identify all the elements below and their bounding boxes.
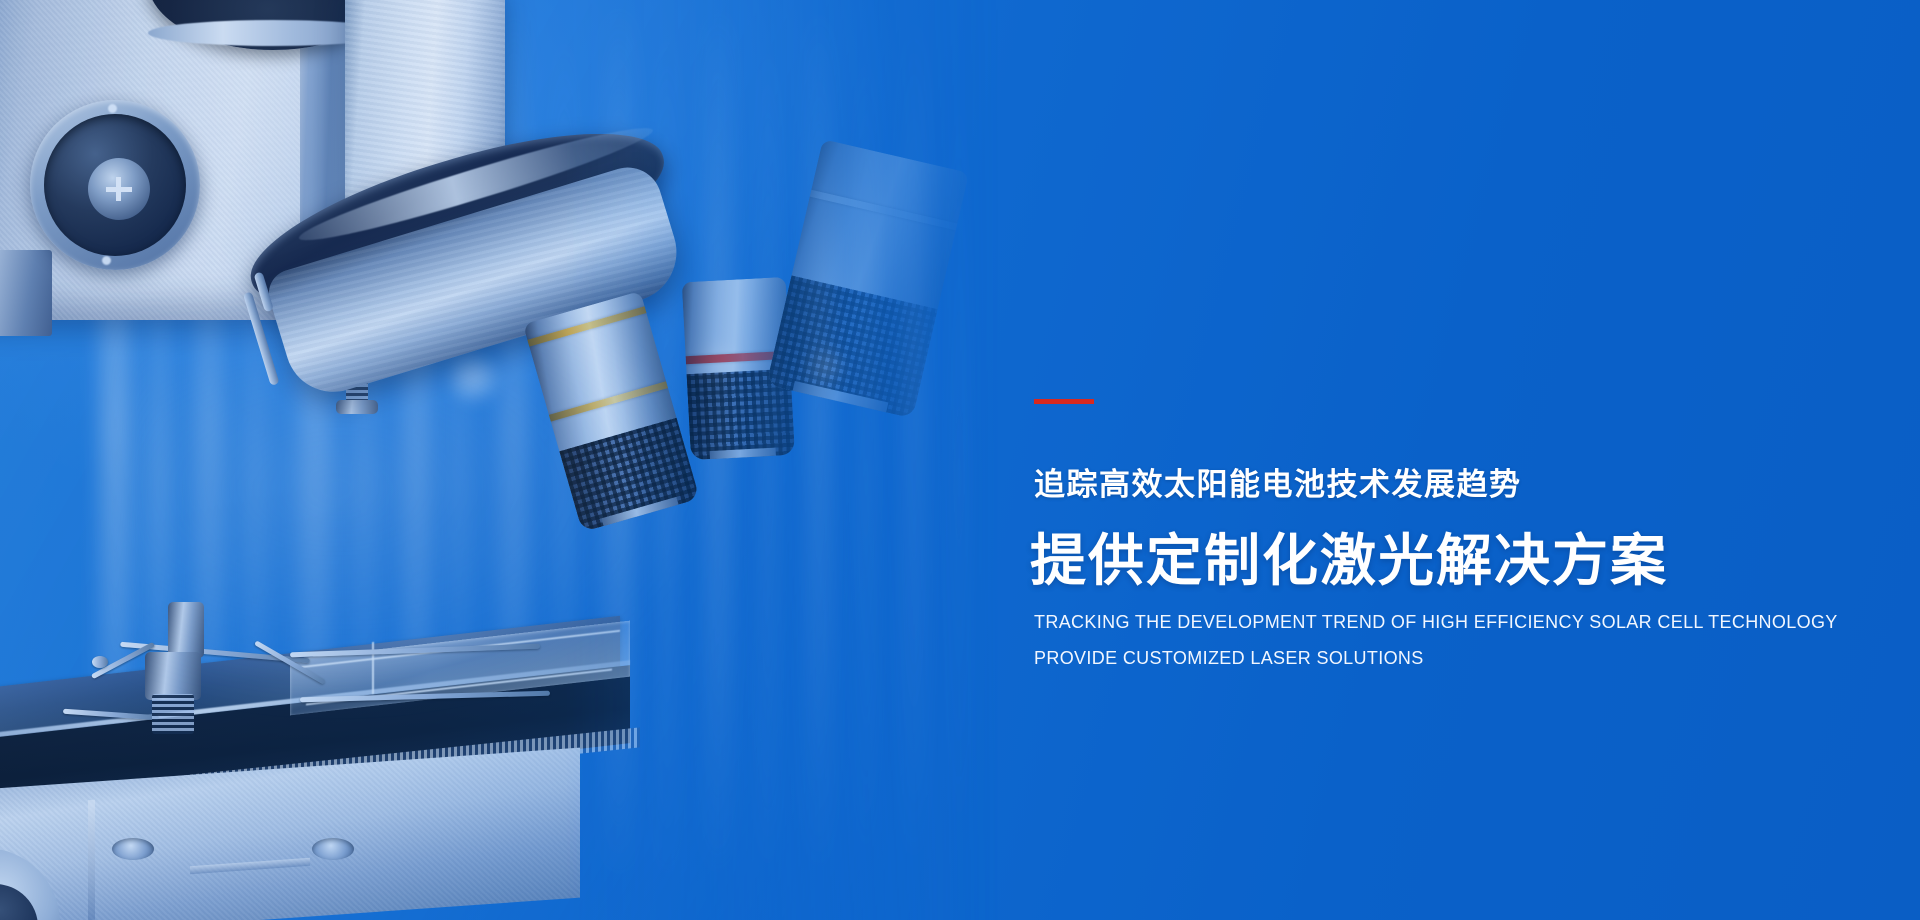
hero-kicker: 追踪高效太阳能电池技术发展趋势 — [1034, 459, 1522, 504]
phillips-screw-icon — [106, 177, 132, 201]
hero-banner: 追踪高效太阳能电池技术发展趋势 提供定制化激光解决方案 TRACKING THE… — [0, 0, 1920, 920]
page-title: 提供定制化激光解决方案 — [1030, 516, 1668, 597]
hero-text-block: 追踪高效太阳能电池技术发展趋势 提供定制化激光解决方案 TRACKING THE… — [1034, 0, 1854, 920]
microscope-photo — [0, 0, 1010, 920]
stage-clip-knurl — [152, 694, 194, 734]
accent-rule — [1034, 399, 1094, 404]
focus-knob-center — [88, 158, 150, 220]
focus-knob-face — [44, 114, 186, 256]
stage-clip-post-upper — [168, 602, 204, 658]
objective-lens-icon — [523, 291, 700, 532]
microscope-side-bracket — [0, 250, 52, 336]
stage-clip-ball — [92, 656, 108, 668]
focus-knob-icon — [30, 100, 200, 270]
hero-subtitle-line-2: PROVIDE CUSTOMIZED LASER SOLUTIONS — [1034, 648, 1424, 669]
base-socket-left — [112, 838, 154, 860]
hero-subtitle-line-1: TRACKING THE DEVELOPMENT TREND OF HIGH E… — [1034, 612, 1838, 633]
objective-lens-icon — [766, 139, 969, 418]
base-socket-right — [312, 838, 354, 860]
base-rib-left — [88, 800, 95, 920]
stage-clip-post-lower — [145, 652, 201, 700]
